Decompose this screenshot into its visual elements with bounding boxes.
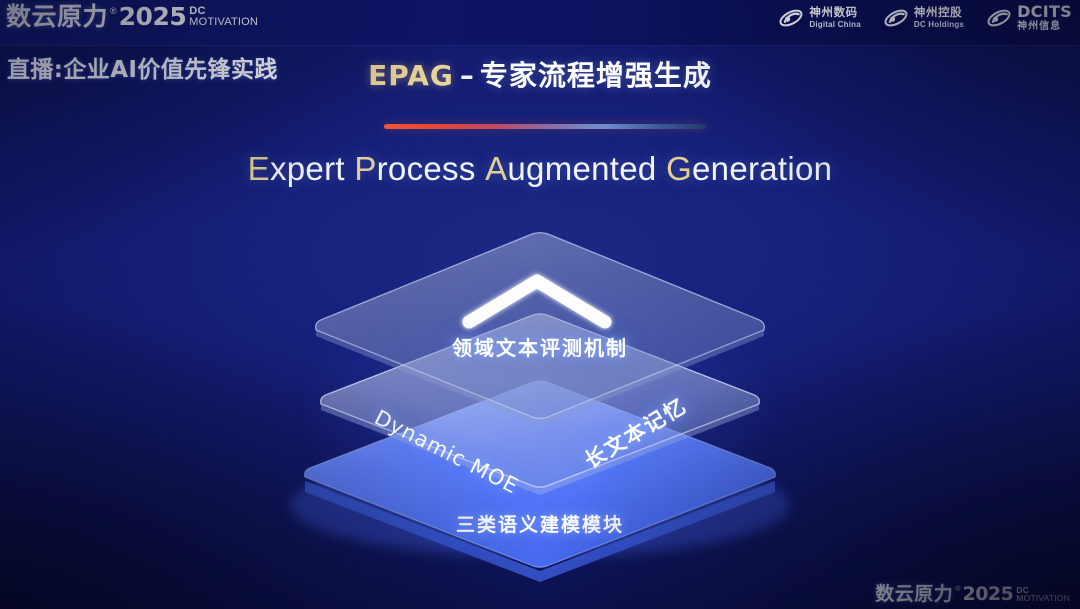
footer-brand-year: 2025 xyxy=(962,583,1013,605)
logo-text-dc-holdings: 神州控股 DC Holdings xyxy=(914,7,964,30)
footer-watermark: 数云原力 ® 2025 DC MOTIVATION xyxy=(875,583,1070,605)
brand-motivation-text: MOTIVATION xyxy=(189,16,258,28)
logo-dcits: DCITS 神州信息 xyxy=(986,4,1072,32)
logo-en-dcits: 神州信息 xyxy=(1017,22,1072,32)
brand-logo: 数云原力 ® 2025 DC MOTIVATION xyxy=(6,3,258,31)
layer-top-label: 领域文本评测机制 xyxy=(0,332,1080,361)
logo-cn-digital-china: 神州数码 xyxy=(809,7,861,19)
swirl-icon xyxy=(778,7,804,29)
subtitle-cap-p: P xyxy=(354,150,376,187)
logo-digital-china: 神州数码 Digital China xyxy=(778,7,861,30)
subtitle-cap-e: E xyxy=(248,150,270,187)
layer-middle-label-left: Dynamic MOE xyxy=(371,405,523,498)
brand-dc-text: DC xyxy=(189,6,258,16)
title-dash: – xyxy=(454,59,480,92)
subtitle-word-generation: eneration xyxy=(692,150,832,187)
partner-logo-group: 神州数码 Digital China 神州控股 DC Holdings xyxy=(778,4,1072,32)
layer-middle xyxy=(321,314,760,495)
subtitle-cap-a: A xyxy=(485,150,507,187)
slide-canvas: 领域文本评测机制 Dynamic MOE 长文本记忆 三类语义建模模块 数云原力… xyxy=(0,0,1080,609)
footer-brand-motivation-text: MOTIVATION xyxy=(1016,594,1070,603)
footer-brand-cn: 数云原力 xyxy=(875,583,953,605)
logo-en-dc-holdings: DC Holdings xyxy=(914,21,964,29)
layer-bottom xyxy=(290,381,790,582)
layer-bottom-label: 三类语义建模模块 xyxy=(0,510,1080,537)
logo-cn-dcits: DCITS xyxy=(1017,4,1072,20)
logo-cn-dc-holdings: 神州控股 xyxy=(914,7,964,19)
page-title: EPAG–专家流程增强生成 xyxy=(0,54,1080,94)
swirl-icon xyxy=(986,7,1012,29)
footer-brand-registered-mark: ® xyxy=(955,585,960,594)
logo-dc-holdings: 神州控股 DC Holdings xyxy=(883,7,964,30)
brand-year: 2025 xyxy=(119,3,187,31)
layer-top xyxy=(316,233,765,426)
chevron-up-icon xyxy=(469,281,605,322)
logo-text-digital-china: 神州数码 Digital China xyxy=(809,7,861,30)
logo-en-digital-china: Digital China xyxy=(809,21,861,29)
title-chinese: 专家流程增强生成 xyxy=(480,59,712,92)
brand-dc-motivation: DC MOTIVATION xyxy=(189,6,258,28)
title-acronym: EPAG xyxy=(368,59,454,92)
subtitle-cap-g: G xyxy=(666,150,692,187)
header-bar: 数云原力 ® 2025 DC MOTIVATION 神州数码 Digital C… xyxy=(0,0,1080,46)
swirl-icon xyxy=(883,7,909,29)
logo-text-dcits: DCITS 神州信息 xyxy=(1017,4,1072,32)
layer-middle-label-right: 长文本记忆 xyxy=(578,390,692,475)
brand-registered-mark: ® xyxy=(110,5,117,17)
subtitle-word-process: rocess xyxy=(377,150,476,187)
footer-brand-dc-motivation: DC MOTIVATION xyxy=(1016,586,1070,603)
page-subtitle: Expert Process Augmented Generation xyxy=(0,150,1080,188)
subtitle-word-expert: xpert xyxy=(270,150,345,187)
center-glow xyxy=(210,210,870,600)
title-divider xyxy=(384,124,706,129)
brand-name-cn: 数云原力 xyxy=(6,3,108,31)
subtitle-word-augmented: ugmented xyxy=(507,150,656,187)
